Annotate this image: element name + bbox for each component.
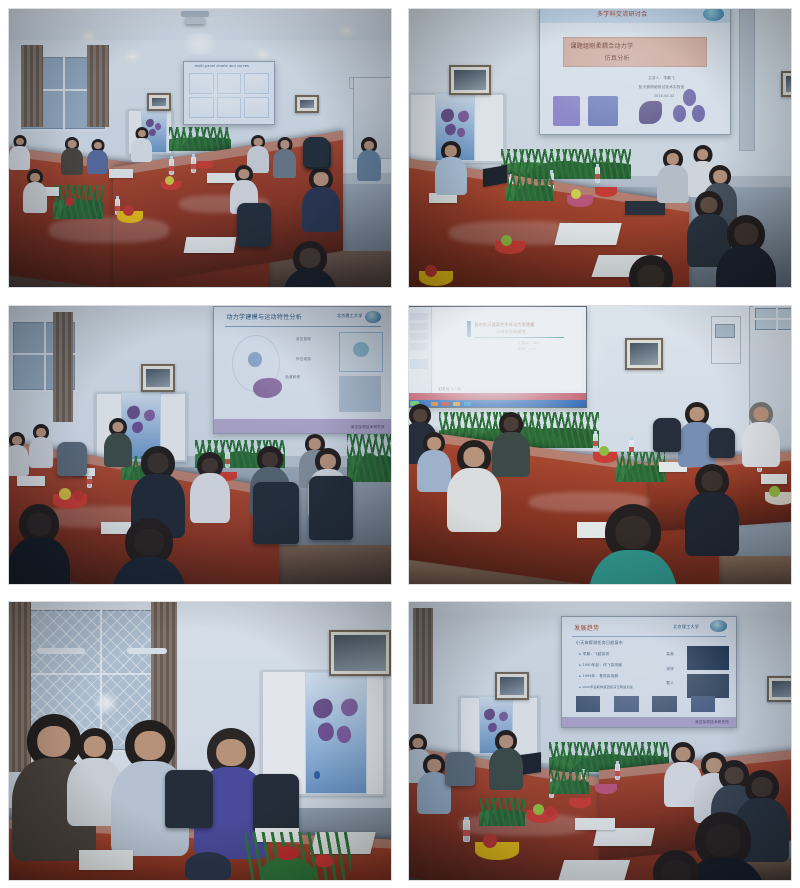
attendee	[423, 754, 445, 776]
attendee	[277, 137, 292, 152]
gallery-cell-3: 动力学建模与运动特性分析 北京理工大学 深空探测 停泊观测 轨道转移 深空探测技…	[0, 296, 400, 594]
poster-title	[482, 701, 510, 705]
attendee	[257, 446, 283, 472]
attendee	[141, 446, 175, 480]
attendee	[629, 255, 673, 287]
photo-3[interactable]: 动力学建模与运动特性分析 北京理工大学 深空探测 停泊观测 轨道转移 深空探测技…	[8, 305, 392, 585]
framed-photo	[495, 672, 529, 700]
framed-photo	[625, 338, 663, 370]
presenter	[109, 418, 127, 436]
attendee	[125, 720, 175, 770]
attendee	[27, 169, 43, 185]
curtain	[413, 608, 433, 704]
gallery-cell-2: 多学科交流研讨会 课题组刚柔耦合动力学 仿真分析 主讲人：李鹏飞 航天器精细测试…	[400, 0, 800, 296]
photo-2[interactable]: 多学科交流研讨会 课题组刚柔耦合动力学 仿真分析 主讲人：李鹏飞 航天器精细测试…	[408, 8, 792, 288]
projection-screen-2: 多学科交流研讨会 课题组刚柔耦合动力学 仿真分析 主讲人：李鹏飞 航天器精细测试…	[539, 9, 731, 135]
speaker	[441, 141, 461, 161]
attendee	[65, 137, 79, 151]
gallery-cell-5	[0, 594, 400, 888]
attendee	[685, 402, 709, 426]
office-chair	[653, 418, 681, 452]
attendee	[409, 734, 427, 752]
attendee	[663, 149, 683, 169]
ceiling-projector	[185, 17, 205, 24]
photo-6[interactable]: 发展趋势 北京理工大学 小天体探测任务日趋复杂 ▸ 早期：飞越探测 ▸ 1990…	[408, 601, 792, 881]
poster-line	[310, 763, 363, 766]
gallery-cell-6: 发展趋势 北京理工大学 小天体探测任务日趋复杂 ▸ 早期：飞越探测 ▸ 1990…	[400, 594, 800, 888]
attendee	[207, 728, 255, 776]
notebook	[79, 850, 133, 870]
curtain	[53, 312, 73, 422]
photo-5[interactable]	[8, 601, 392, 881]
attendee	[423, 432, 445, 454]
attendee	[499, 412, 523, 436]
projection-screen-4: 复杂航天器柔性多体动力学建模 与响应分析研究 汇报人：××× 导师：××× 幻灯…	[409, 306, 587, 408]
poster-maintitle	[310, 745, 363, 749]
curtain	[87, 45, 109, 127]
gallery-cell-1: multi-panel charts and curves	[0, 0, 400, 296]
attendee	[197, 452, 223, 478]
attendee	[361, 137, 377, 153]
office-chair	[309, 476, 353, 540]
poster-graphic	[311, 697, 336, 722]
handout	[575, 818, 615, 830]
handout	[558, 860, 630, 880]
office-chair	[165, 770, 213, 828]
attendee	[91, 139, 104, 152]
attendee	[653, 850, 699, 880]
attendee	[727, 215, 765, 253]
attendee	[693, 145, 712, 164]
attendee	[251, 135, 265, 149]
poster-line	[310, 757, 363, 760]
framed-photo	[295, 95, 319, 113]
attendee	[235, 165, 253, 183]
senior-attendee	[749, 402, 773, 426]
poster-title	[124, 398, 157, 402]
attendee	[33, 424, 49, 440]
attendee	[315, 448, 341, 474]
poster-graphic	[316, 721, 336, 743]
attendee	[13, 135, 26, 148]
handout	[593, 828, 655, 846]
attendee	[671, 742, 695, 766]
attendee	[709, 165, 731, 187]
handout	[17, 476, 45, 486]
attendee	[695, 464, 729, 498]
poster-title	[438, 99, 471, 103]
attendee	[605, 504, 661, 560]
transom-window	[753, 306, 791, 332]
presenter	[135, 127, 148, 140]
projection-screen-1: multi-panel charts and curves	[183, 61, 275, 125]
attendee	[695, 191, 723, 219]
attendee	[19, 504, 59, 544]
framed-photo	[767, 676, 791, 702]
projection-screen-6: 发展趋势 北京理工大学 小天体探测任务日趋复杂 ▸ 早期：飞越探测 ▸ 1990…	[561, 616, 737, 728]
handout	[625, 201, 665, 215]
office-chair	[445, 752, 475, 786]
baseball-cap	[185, 852, 231, 880]
attendee	[293, 241, 327, 275]
poster-graphic	[339, 697, 360, 718]
framed-photo	[147, 93, 171, 111]
office-chair	[237, 203, 271, 247]
poster-title	[143, 113, 164, 117]
attendee	[9, 432, 25, 448]
photo-4[interactable]: 复杂航天器柔性多体动力学建模 与响应分析研究 汇报人：××× 导师：××× 幻灯…	[408, 305, 792, 585]
handout	[207, 173, 237, 183]
anthurium-plant	[245, 832, 351, 880]
office-chair	[253, 482, 299, 544]
door	[739, 9, 755, 151]
handout	[184, 237, 237, 253]
attendee	[409, 404, 431, 426]
handout	[761, 474, 787, 484]
conference-poster[interactable]	[305, 672, 367, 794]
framed-photo	[781, 71, 791, 97]
attendee	[309, 167, 333, 191]
gallery-cell-4: 复杂航天器柔性多体动力学建模 与响应分析研究 汇报人：××× 导师：××× 幻灯…	[400, 296, 800, 594]
presenter	[495, 730, 517, 752]
photo-1[interactable]: multi-panel charts and curves	[8, 8, 392, 288]
office-chair	[303, 137, 329, 167]
projection-screen-3: 动力学建模与运动特性分析 北京理工大学 深空探测 停泊观测 轨道转移 深空探测技…	[213, 306, 391, 434]
photo-gallery: multi-panel charts and curves	[0, 0, 800, 888]
handout	[109, 169, 133, 178]
attendee	[27, 714, 81, 768]
framed-photo	[449, 65, 491, 95]
attendee	[745, 770, 779, 804]
office-chair	[57, 442, 87, 476]
attendee	[695, 812, 751, 868]
office-chair	[709, 428, 735, 458]
poster-header	[310, 683, 363, 687]
attendee	[457, 440, 491, 474]
poster-graphic	[335, 724, 354, 744]
curtain	[21, 45, 43, 127]
attendee	[125, 518, 173, 566]
handout	[554, 223, 621, 245]
framed-photo	[141, 364, 175, 392]
framed-photo	[329, 630, 391, 676]
office-chair	[253, 774, 299, 832]
attendee	[77, 728, 113, 764]
